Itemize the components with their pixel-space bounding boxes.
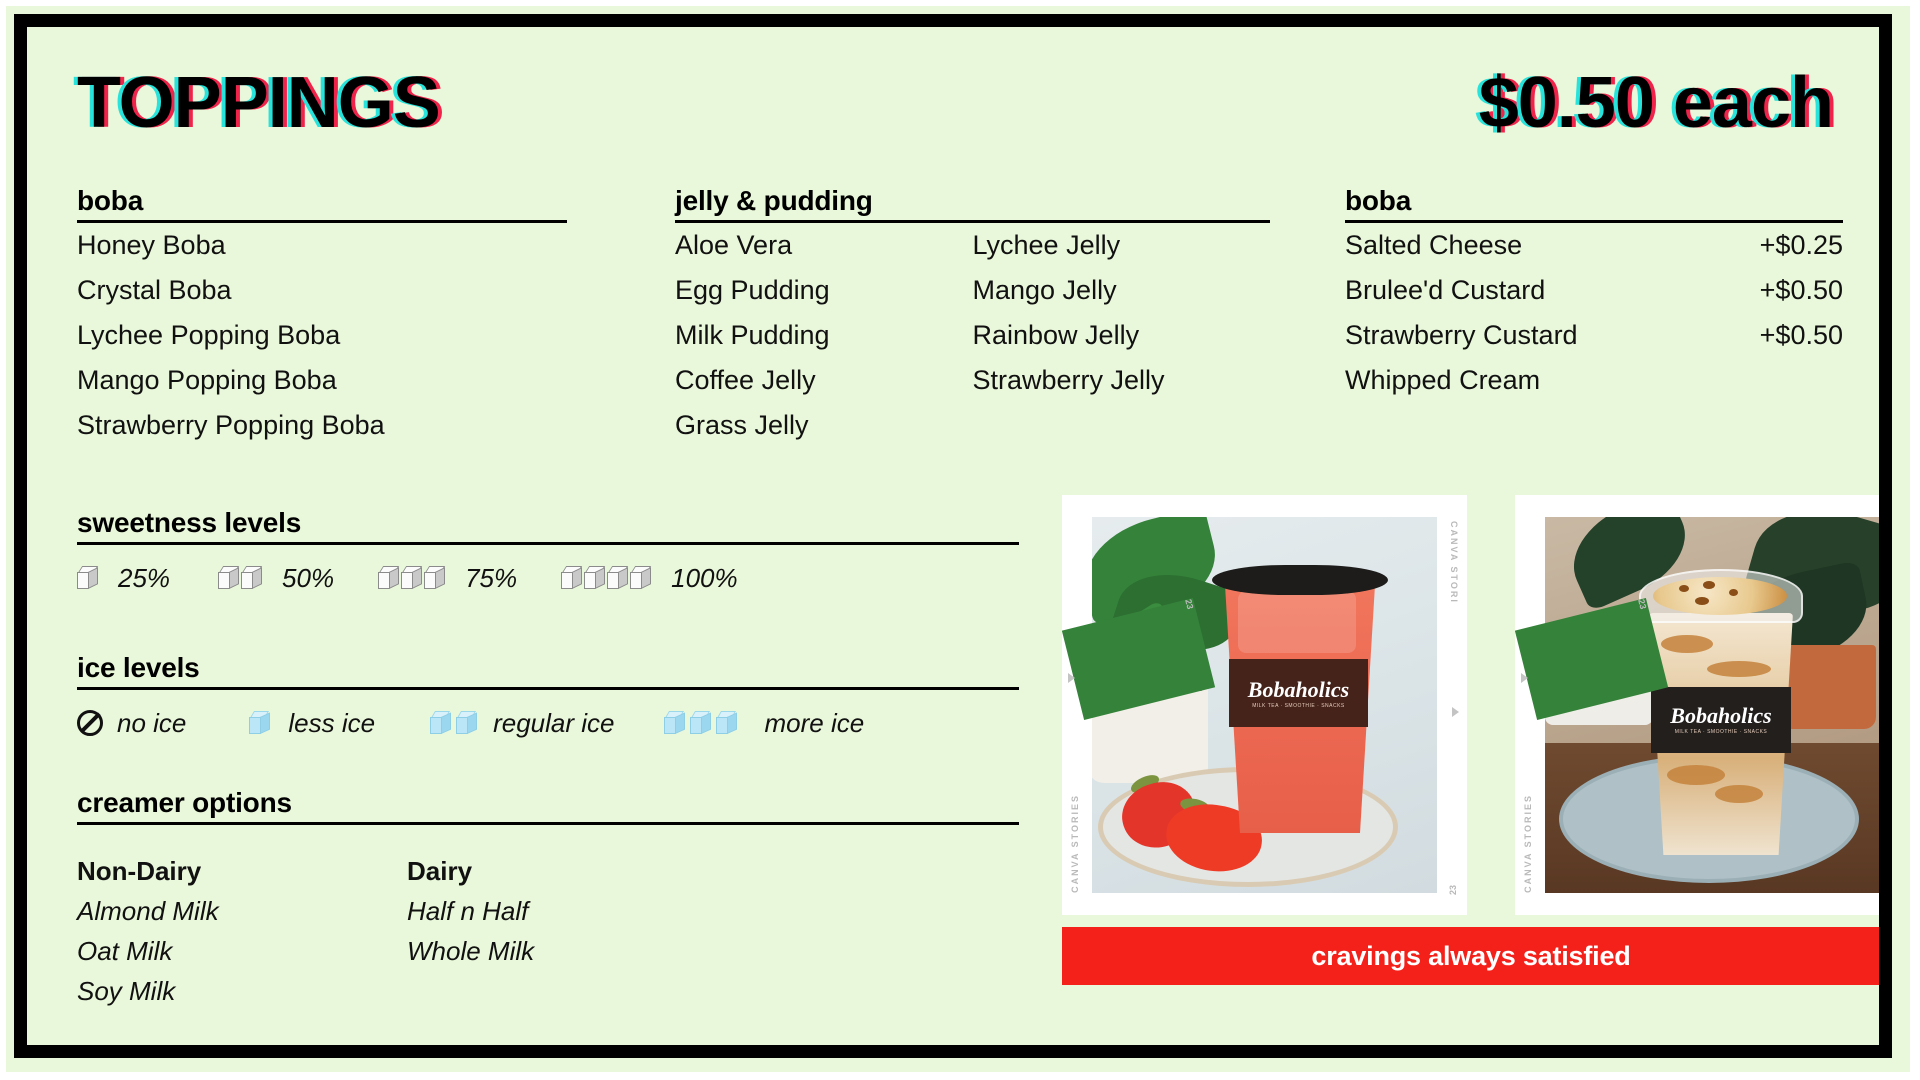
section-heading-jelly-pudding: jelly & pudding [675, 185, 1270, 217]
ice-cube-icon [663, 710, 687, 736]
creamer-columns: Non-Dairy Almond Milk Oat Milk Soy Milk … [77, 851, 1019, 1011]
sweetness-option-25[interactable]: 25% [77, 563, 170, 594]
sugar-cube-icon [218, 566, 240, 590]
creamer-group-title: Non-Dairy [77, 851, 407, 891]
banner-text: cravings always satisfied [1311, 941, 1630, 972]
sugar-cube-icon [561, 566, 583, 590]
ice-label: no ice [117, 708, 186, 739]
page-title: TOPPINGS [77, 55, 440, 151]
ice-options: no ice less ice regular ice [77, 708, 1019, 739]
ice-label: more ice [765, 708, 865, 739]
boba-list: Honey Boba Crystal Boba Lychee Popping B… [77, 223, 567, 448]
sweetness-option-75[interactable]: 75% [378, 563, 517, 594]
list-item: Grass Jelly [675, 403, 973, 448]
section-creamer: creamer options Non-Dairy Almond Milk Oa… [77, 787, 1019, 1011]
list-item: Egg Pudding [675, 268, 973, 313]
ice-cube-icon-group [429, 710, 481, 736]
sweetness-label: 100% [671, 563, 738, 594]
section-ice: ice levels no ice less ice [77, 652, 1019, 739]
sugar-cube-icon-group [218, 566, 264, 590]
watermark-triangle-icon [1068, 673, 1075, 683]
poster-outer: TOPPINGS $0.50 each boba Honey Boba Crys… [0, 0, 1920, 1080]
sugar-cube-icon [424, 566, 446, 590]
sugar-cube-icon [607, 566, 629, 590]
ice-cube-icon [455, 710, 479, 736]
section-sweetness: sweetness levels 25% 50% [77, 507, 1019, 594]
ice-cube-icon-group [248, 710, 274, 736]
table-row: Whipped Cream [1345, 358, 1843, 403]
photo-gallery: Bobaholics MILK TEA · SMOOTHIE · SNACKS … [1062, 495, 1879, 915]
list-item: Aloe Vera [675, 223, 973, 268]
ice-option-less-ice[interactable]: less ice [248, 708, 375, 739]
watermark-triangle-icon [1521, 673, 1528, 683]
strawberry-drink-photo: Bobaholics MILK TEA · SMOOTHIE · SNACKS … [1062, 495, 1467, 915]
list-item: Half n Half [407, 891, 737, 931]
section-premium-boba: boba Salted Cheese +$0.25 Brulee'd Custa… [1345, 185, 1843, 403]
table-row: Salted Cheese +$0.25 [1345, 223, 1843, 268]
list-item: Coffee Jelly [675, 358, 973, 403]
divider-rule [77, 822, 1019, 825]
poster-green-edge: TOPPINGS $0.50 each boba Honey Boba Crys… [6, 6, 1910, 1072]
watermark-text: CANVA STORI [1449, 521, 1459, 604]
table-row: Brulee'd Custard +$0.50 [1345, 268, 1843, 313]
sugar-cube-icon-group [77, 566, 100, 590]
ice-cube-icon [689, 710, 713, 736]
section-heading-creamer: creamer options [77, 787, 1019, 819]
jelly-columns: Aloe Vera Egg Pudding Milk Pudding Coffe… [675, 223, 1270, 448]
divider-rule [77, 687, 1019, 690]
poster-black-frame: TOPPINGS $0.50 each boba Honey Boba Crys… [14, 14, 1892, 1058]
list-item: Rainbow Jelly [973, 313, 1271, 358]
premium-boba-list: Salted Cheese +$0.25 Brulee'd Custard +$… [1345, 223, 1843, 403]
watermark-triangle-icon [1452, 707, 1459, 717]
creamer-group-title: Dairy [407, 851, 737, 891]
item-name: Brulee'd Custard [1345, 268, 1545, 313]
cup-sleeve: Bobaholics MILK TEA · SMOOTHIE · SNACKS [1229, 659, 1368, 727]
jelly-column-left: Aloe Vera Egg Pudding Milk Pudding Coffe… [675, 223, 973, 448]
item-name: Strawberry Custard [1345, 313, 1578, 358]
ice-option-no-ice[interactable]: no ice [77, 708, 186, 739]
ice-cube-icon [429, 710, 453, 736]
sweetness-option-50[interactable]: 50% [218, 563, 334, 594]
watermark-text: CANVA STORIES [1523, 794, 1533, 893]
sweetness-option-100[interactable]: 100% [561, 563, 738, 594]
drink-cup: Bobaholics MILK TEA · SMOOTHIE · SNACKS [1220, 565, 1380, 833]
list-item: Mango Jelly [973, 268, 1271, 313]
sugar-cube-icon [241, 566, 263, 590]
list-item: Whole Milk [407, 931, 737, 971]
section-boba: boba Honey Boba Crystal Boba Lychee Popp… [77, 185, 567, 448]
sweetness-label: 25% [118, 563, 170, 594]
drink-cup: Bobaholics MILK TEA · SMOOTHIE · SNACKS [1637, 569, 1805, 857]
sugar-cube-icon-group [561, 566, 653, 590]
item-name: Salted Cheese [1345, 223, 1522, 268]
brand-logo: Bobaholics [1248, 677, 1349, 703]
section-heading-ice: ice levels [77, 652, 1019, 684]
sugar-cube-icon [630, 566, 652, 590]
tagline-banner: cravings always satisfied [1062, 927, 1879, 985]
section-heading-sweetness: sweetness levels [77, 507, 1019, 539]
ice-label: less ice [288, 708, 375, 739]
brand-logo: Bobaholics [1670, 703, 1771, 729]
list-item: Lychee Jelly [973, 223, 1271, 268]
ice-label: regular ice [493, 708, 614, 739]
ice-option-regular-ice[interactable]: regular ice [429, 708, 614, 739]
list-item: Soy Milk [77, 971, 407, 1011]
item-price: +$0.50 [1760, 268, 1843, 313]
section-heading-premium-boba: boba [1345, 185, 1843, 217]
item-price: +$0.50 [1760, 313, 1843, 358]
sweetness-options: 25% 50% 75% [77, 563, 1019, 594]
list-item: Oat Milk [77, 931, 407, 971]
list-item: Almond Milk [77, 891, 407, 931]
ice-cube-icon [248, 710, 272, 736]
table-row: Strawberry Custard +$0.50 [1345, 313, 1843, 358]
item-name: Whipped Cream [1345, 358, 1540, 403]
sugar-cube-icon-group [378, 566, 447, 590]
no-ice-icon [77, 710, 103, 736]
ice-option-more-ice[interactable]: more ice [663, 708, 865, 739]
brand-tagline: MILK TEA · SMOOTHIE · SNACKS [1252, 703, 1345, 709]
section-heading-boba: boba [77, 185, 567, 217]
headline-row: TOPPINGS $0.50 each [77, 55, 1833, 151]
list-item: Crystal Boba [77, 268, 567, 313]
sugar-cube-icon [401, 566, 423, 590]
watermark-text: CANVA STORIES [1070, 794, 1080, 893]
divider-rule [77, 542, 1019, 545]
list-item: Honey Boba [77, 223, 567, 268]
list-item: Milk Pudding [675, 313, 973, 358]
item-price: +$0.25 [1760, 223, 1843, 268]
sweetness-label: 50% [282, 563, 334, 594]
watermark-number: 23 [1448, 885, 1458, 895]
creamer-group-dairy: Dairy Half n Half Whole Milk [407, 851, 737, 1011]
sugar-cube-icon [584, 566, 606, 590]
creamer-group-non-dairy: Non-Dairy Almond Milk Oat Milk Soy Milk [77, 851, 407, 1011]
jelly-column-right: Lychee Jelly Mango Jelly Rainbow Jelly S… [973, 223, 1271, 448]
brand-tagline: MILK TEA · SMOOTHIE · SNACKS [1675, 729, 1768, 735]
sugar-cube-icon [378, 566, 400, 590]
ice-cube-icon [715, 710, 739, 736]
cup-sleeve: Bobaholics MILK TEA · SMOOTHIE · SNACKS [1651, 687, 1791, 753]
list-item: Strawberry Popping Boba [77, 403, 567, 448]
list-item: Mango Popping Boba [77, 358, 567, 403]
sugar-cube-icon [77, 566, 99, 590]
section-jelly-pudding: jelly & pudding Aloe Vera Egg Pudding Mi… [675, 185, 1270, 448]
list-item: Strawberry Jelly [973, 358, 1271, 403]
poster-inner: TOPPINGS $0.50 each boba Honey Boba Crys… [27, 27, 1879, 1045]
sweetness-label: 75% [465, 563, 517, 594]
ice-cube-icon-group [663, 710, 741, 736]
list-item: Lychee Popping Boba [77, 313, 567, 358]
brulee-custard-drink-photo: Bobaholics MILK TEA · SMOOTHIE · SNACKS … [1515, 495, 1879, 915]
price-header: $0.50 each [1479, 55, 1833, 151]
